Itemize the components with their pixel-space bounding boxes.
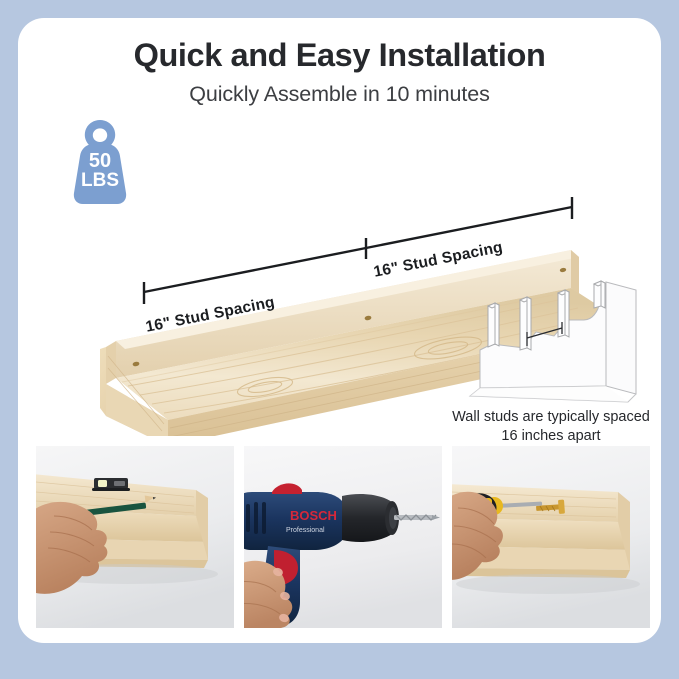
page-subtitle: Quickly Assemble in 10 minutes: [18, 82, 661, 107]
infographic-canvas: Quick and Easy Installation Quickly Asse…: [0, 0, 679, 679]
drill-bit-icon: [394, 515, 440, 520]
level-tool-icon: [92, 478, 130, 491]
wall-stud-diagram: 16": [458, 276, 648, 406]
drill-subbrand-label: Professional: [286, 527, 325, 534]
content-card: Quick and Easy Installation Quickly Asse…: [18, 18, 661, 643]
dimension-line-right: [366, 197, 572, 248]
drilling-wall-photo: BOSCH Professional: [244, 446, 442, 628]
stud-diagram-caption: Wall studs are typically spaced 16 inche…: [448, 408, 654, 446]
shelf-left-rail-end: [106, 341, 116, 384]
wall-studs-cutaway-icon: [458, 276, 648, 406]
installation-step-photos: BOSCH Professional: [36, 446, 650, 628]
screwing-shelf-photo: [452, 446, 650, 628]
page-title: Quick and Easy Installation: [18, 37, 661, 74]
marking-shelf-position-photo: [36, 446, 234, 628]
drill-brand-label: BOSCH: [290, 508, 337, 523]
dimension-line-left: [144, 238, 366, 304]
